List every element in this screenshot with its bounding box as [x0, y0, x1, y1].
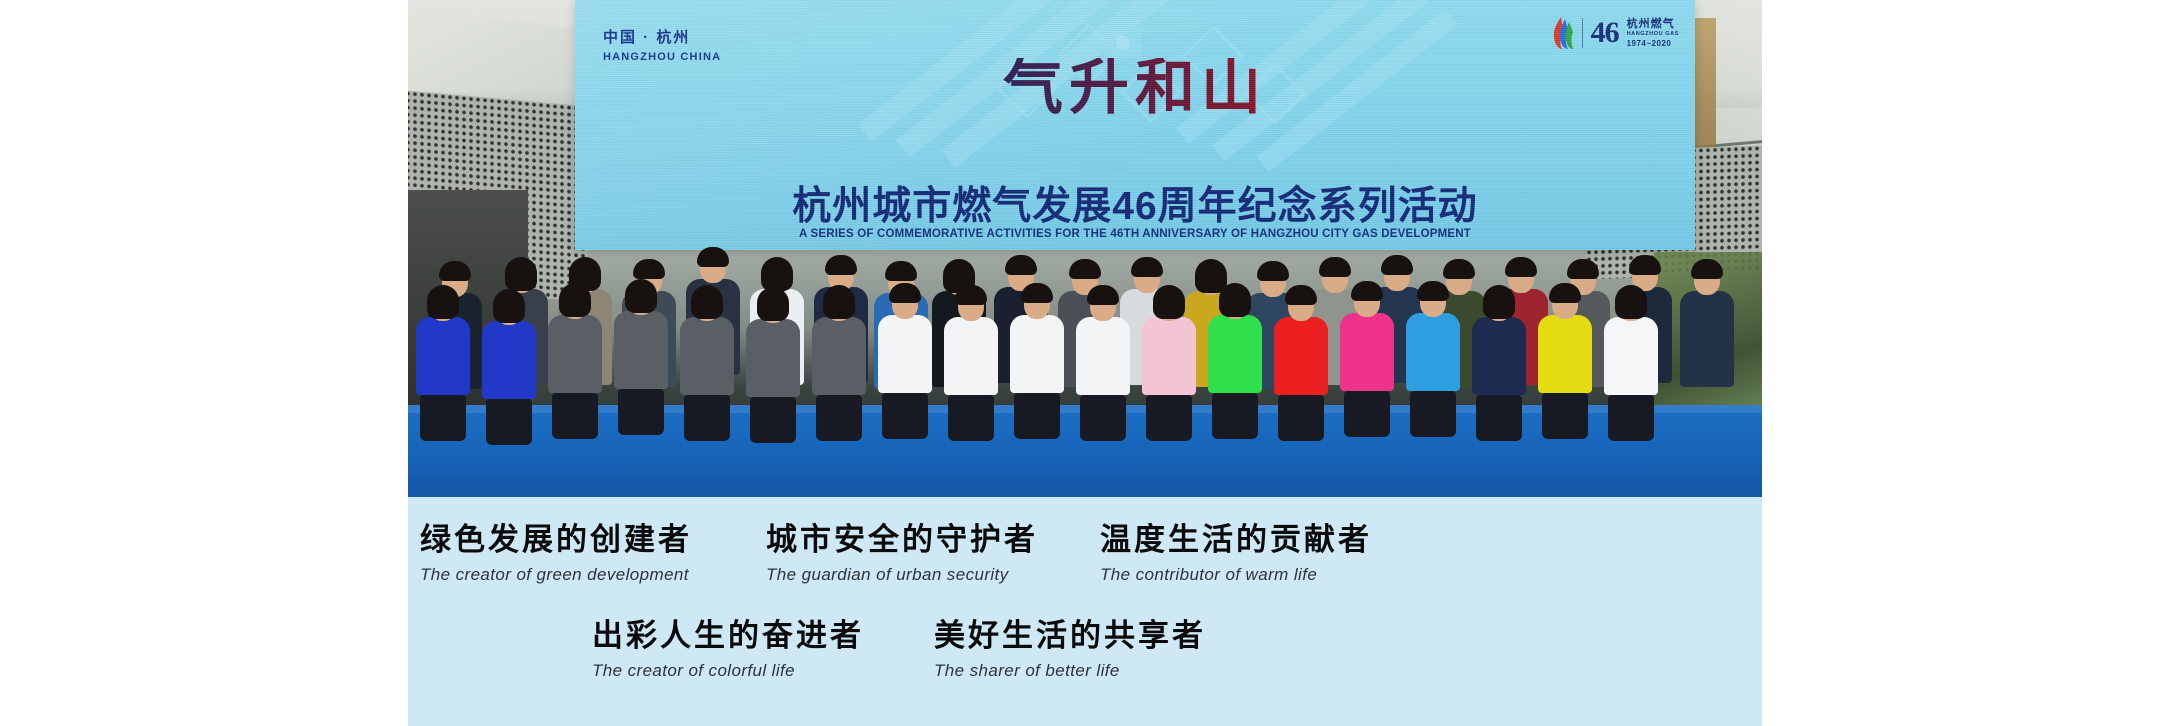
- brand-text-block: 杭州燃气 HANGZHOU GAS 1974~2020: [1627, 18, 1679, 48]
- person: [1076, 290, 1130, 441]
- slogan-cn: 出彩人生的奋进者: [592, 619, 864, 653]
- person: [1406, 286, 1460, 437]
- slogan-en: The guardian of urban security: [766, 565, 1038, 585]
- person: [680, 290, 734, 441]
- person: [746, 292, 800, 443]
- anniversary-number: 46: [1591, 18, 1619, 48]
- slogan-cn: 绿色发展的创建者: [420, 523, 692, 557]
- page-root: 中国 · 杭州 HANGZHOU CHINA 46 杭州燃气 HANGZHOU …: [0, 0, 2179, 726]
- brand-name-en: HANGZHOU GAS: [1627, 31, 1679, 37]
- person: [878, 288, 932, 439]
- content-column: 中国 · 杭州 HANGZHOU CHINA 46 杭州燃气 HANGZHOU …: [408, 0, 1762, 726]
- person: [1472, 290, 1526, 441]
- stylized-logo-text: 气升和山: [575, 58, 1695, 118]
- location-cn: 中国 · 杭州: [603, 26, 721, 47]
- person: [614, 284, 668, 435]
- slogan-item: 城市安全的守护者 The guardian of urban security: [766, 523, 1038, 585]
- person: [416, 290, 470, 441]
- brand-divider: [1582, 18, 1583, 48]
- crowd-group: [408, 177, 1762, 497]
- brand-lockup: 46 杭州燃气 HANGZHOU GAS 1974~2020: [1550, 16, 1679, 50]
- slogan-cn: 美好生活的共享者: [934, 619, 1206, 653]
- slogan-item: 美好生活的共享者 The sharer of better life: [934, 619, 1206, 681]
- brand-years: 1974~2020: [1627, 39, 1679, 48]
- person: [1208, 288, 1262, 439]
- slogan-panel: 绿色发展的创建者 The creator of green developmen…: [408, 497, 1762, 726]
- person: [1340, 286, 1394, 437]
- slogan-en: The creator of colorful life: [592, 661, 864, 681]
- person: [548, 288, 602, 439]
- person: [1538, 288, 1592, 439]
- person: [812, 290, 866, 441]
- brand-name-cn: 杭州燃气: [1627, 18, 1679, 31]
- flame-icon: [1550, 16, 1574, 50]
- slogan-en: The contributor of warm life: [1100, 565, 1372, 585]
- person: [482, 294, 536, 445]
- person: [944, 290, 998, 441]
- slogan-item: 出彩人生的奋进者 The creator of colorful life: [592, 619, 864, 681]
- slogan-item: 绿色发展的创建者 The creator of green developmen…: [420, 523, 692, 585]
- person: [1142, 290, 1196, 441]
- slogan-en: The sharer of better life: [934, 661, 1206, 681]
- person: [1680, 264, 1734, 387]
- slogan-cn: 城市安全的守护者: [766, 523, 1038, 557]
- person: [1274, 290, 1328, 441]
- person: [1010, 288, 1064, 439]
- slogan-item: 温度生活的贡献者 The contributor of warm life: [1100, 523, 1372, 585]
- person: [1604, 290, 1658, 441]
- slogan-cn: 温度生活的贡献者: [1100, 523, 1372, 557]
- slogan-en: The creator of green development: [420, 565, 692, 585]
- event-group-photo: 中国 · 杭州 HANGZHOU CHINA 46 杭州燃气 HANGZHOU …: [408, 0, 1762, 497]
- house-icon: [1095, 10, 1151, 60]
